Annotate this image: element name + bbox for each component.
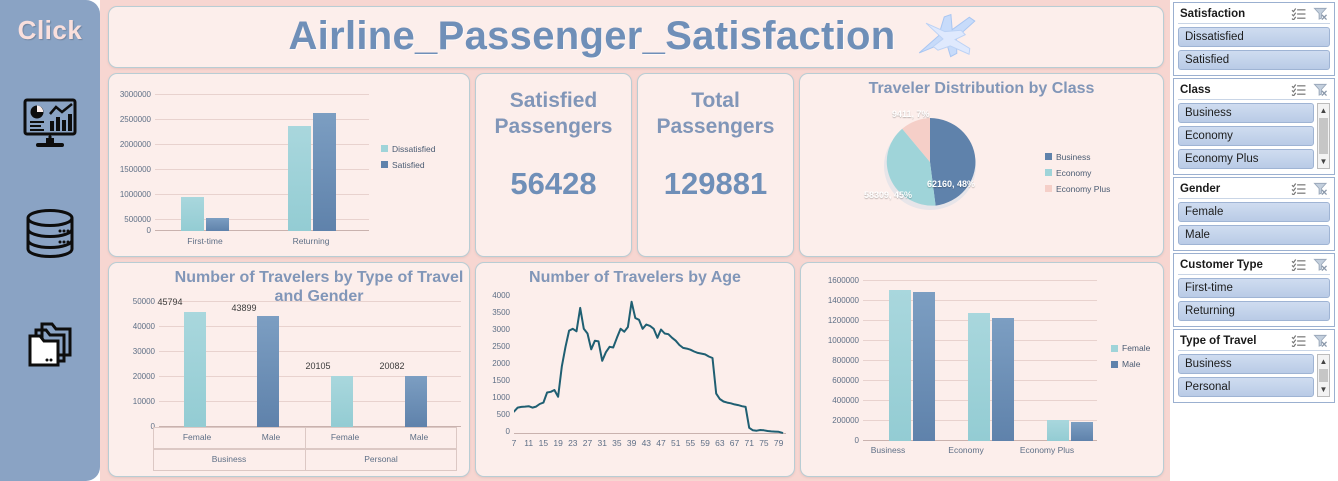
y-tick: 40000 [113, 322, 155, 331]
slicer-item-economy[interactable]: Economy [1178, 126, 1314, 146]
page-title: Airline_Passenger_Satisfaction [288, 14, 895, 59]
slicer-panel: Satisfaction DissatisfiedSatisfiedClass … [1170, 0, 1338, 481]
slicer-body: DissatisfiedSatisfied [1178, 24, 1330, 70]
dashboard-row-2: Number of Travelers by Type of Traveland… [108, 262, 1164, 477]
scrollbar-thumb[interactable] [1319, 118, 1328, 154]
sidebar-item-files[interactable] [18, 312, 82, 376]
dashboard-app: Click [0, 0, 1338, 481]
x-tick: Economy Plus [1005, 445, 1089, 455]
pie-label-business: 62160, 48% [927, 179, 975, 189]
y-tick: 1500 [476, 376, 510, 385]
slicer-item-satisfied[interactable]: Satisfied [1178, 50, 1330, 70]
chart-legend: Dissatisfied Satisfied [381, 144, 435, 176]
dashboard-header: Airline_Passenger_Satisfaction [108, 6, 1164, 68]
x-tick: Female [305, 432, 385, 442]
database-icon [22, 208, 78, 260]
x-tick: Male [231, 432, 311, 442]
multi-select-icon[interactable] [1291, 7, 1306, 20]
kpi-value: 129881 [664, 166, 767, 202]
slicer-item-list: BusinessPersonal [1178, 354, 1314, 397]
bar-economy-plus-male [1071, 422, 1093, 441]
legend-swatch [1111, 361, 1118, 368]
bar-business-male [913, 292, 935, 441]
multi-select-icon[interactable] [1291, 83, 1306, 96]
chart-title: Number of Travelers by Age [476, 263, 794, 287]
bar-economy-male [992, 318, 1014, 441]
y-tick: 3000000 [109, 90, 151, 99]
bar-economy-plus-female [1047, 420, 1069, 441]
chart-class-by-gender: 1600000 1400000 1200000 1000000 800000 6… [800, 262, 1164, 477]
y-tick: 1000000 [805, 336, 859, 345]
y-tick: 1600000 [805, 276, 859, 285]
dashboard-row-1: 3000000 2500000 2000000 1500000 1000000 … [108, 73, 1164, 258]
y-tick: 1000 [476, 393, 510, 402]
slicer-title: Satisfaction [1180, 8, 1245, 20]
slicer-title: Customer Type [1180, 259, 1263, 271]
kpi-label: SatisfiedPassengers [495, 88, 613, 141]
slicer-item-female[interactable]: Female [1178, 202, 1330, 222]
y-tick: 2000000 [109, 140, 151, 149]
bar-returning-satisfied [313, 113, 336, 231]
slicer-gender: Gender FemaleMale [1173, 177, 1335, 251]
x-tick: Business [851, 445, 925, 455]
scroll-down-icon[interactable]: ▼ [1318, 155, 1329, 168]
y-tick: 1000000 [109, 190, 151, 199]
legend-label: Dissatisfied [392, 144, 435, 154]
slicer-scrollbar[interactable]: ▲ ▼ [1317, 103, 1330, 169]
clear-filter-icon[interactable] [1313, 83, 1328, 96]
clear-filter-icon[interactable] [1313, 7, 1328, 20]
y-tick: 400000 [805, 396, 859, 405]
y-tick: 10000 [113, 397, 155, 406]
slicer-item-list: FemaleMale [1178, 202, 1330, 245]
y-tick: 20000 [113, 372, 155, 381]
legend-label: Business [1056, 152, 1091, 162]
bar-value-label: 45794 [145, 297, 195, 307]
slicer-scrollbar[interactable]: ▲ ▼ [1317, 354, 1330, 397]
scroll-up-icon[interactable]: ▲ [1318, 355, 1329, 368]
legend-label: Economy [1056, 168, 1091, 178]
x-group-label: Business [153, 454, 305, 464]
slicer-body: FemaleMale [1178, 199, 1330, 245]
legend-label: Satisfied [392, 160, 425, 170]
slicer-body: First-timeReturning [1178, 275, 1330, 321]
x-tick: Economy [929, 445, 1003, 455]
bar-returning-dissatisfied [288, 126, 311, 231]
left-sidebar: Click [0, 0, 100, 481]
scrollbar-thumb[interactable] [1319, 369, 1328, 382]
legend-swatch [381, 145, 388, 152]
scroll-up-icon[interactable]: ▲ [1318, 104, 1329, 117]
sidebar-title: Click [18, 15, 83, 46]
legend-item: Economy Plus [1045, 184, 1110, 194]
slicer-item-economy-plus[interactable]: Economy Plus [1178, 149, 1314, 169]
chart-legend: Female Male [1111, 343, 1150, 375]
y-tick: 30000 [113, 347, 155, 356]
y-tick: 1200000 [805, 316, 859, 325]
pie-chart [870, 106, 990, 218]
x-group-label: Personal [305, 454, 457, 464]
bar-first-time-dissatisfied [181, 197, 204, 231]
sidebar-item-database[interactable] [18, 202, 82, 266]
y-tick: 800000 [805, 356, 859, 365]
bar-business-female [184, 312, 206, 427]
slicer-item-list: BusinessEconomyEconomy Plus [1178, 103, 1314, 169]
y-tick: 1400000 [805, 296, 859, 305]
legend-swatch [1045, 153, 1052, 160]
kpi-value: 56428 [510, 166, 596, 202]
y-tick: 500000 [109, 215, 151, 224]
chart-satisfaction-by-customer-type: 3000000 2500000 2000000 1500000 1000000 … [108, 73, 470, 258]
legend-item: Dissatisfied [381, 144, 435, 154]
slicer-header: Satisfaction [1178, 6, 1330, 24]
y-tick: 200000 [805, 416, 859, 425]
legend-item: Business [1045, 152, 1110, 162]
y-tick: 4000 [476, 291, 510, 300]
bar-personal-male [405, 376, 427, 427]
bar-value-label: 20105 [293, 361, 343, 371]
bar-personal-female [331, 376, 353, 427]
y-tick: 2000 [476, 359, 510, 368]
slicer-title: Type of Travel [1180, 335, 1256, 347]
slicer-class: Class BusinessEconomyEconomy Plus▲ ▼ [1173, 78, 1335, 175]
bar-first-time-satisfied [206, 218, 229, 231]
legend-item: Male [1111, 359, 1150, 369]
bar-value-label: 20082 [367, 361, 417, 371]
clear-filter-icon[interactable] [1313, 258, 1328, 271]
x-tick: First-time [155, 236, 255, 246]
slicer-header: Gender [1178, 181, 1330, 199]
age-line-series [514, 291, 786, 435]
pie-label-economy: 58309, 45% [864, 190, 912, 200]
y-tick: 1500000 [109, 165, 151, 174]
slicer-item-first-time[interactable]: First-time [1178, 278, 1330, 298]
x-tick: Returning [261, 236, 361, 246]
kpi-total-passengers: TotalPassengers 129881 [637, 73, 794, 258]
slicer-item-personal[interactable]: Personal [1178, 377, 1314, 397]
multi-select-icon[interactable] [1291, 334, 1306, 347]
slicer-header: Customer Type [1178, 257, 1330, 275]
slicer-header: Type of Travel [1178, 333, 1330, 351]
slicer-type-of-travel: Type of Travel BusinessPersonal▲ ▼ [1173, 329, 1335, 403]
slicer-customer-type: Customer Type First-timeReturning [1173, 253, 1335, 327]
chart-travelers-by-age: Number of Travelers by Age 4000 3500 300… [475, 262, 795, 477]
y-tick: 500 [476, 410, 510, 419]
slicer-satisfaction: Satisfaction DissatisfiedSatisfied [1173, 2, 1335, 76]
kpi-label: TotalPassengers [657, 88, 775, 141]
legend-item: Economy [1045, 168, 1110, 178]
slicer-header: Class [1178, 82, 1330, 100]
slicer-body: BusinessPersonal▲ ▼ [1178, 351, 1330, 397]
y-tick: 0 [109, 226, 151, 235]
clear-filter-icon[interactable] [1313, 334, 1328, 347]
chart-travelers-by-type-and-gender: Number of Travelers by Type of Traveland… [108, 262, 470, 477]
legend-label: Female [1122, 343, 1150, 353]
pie-slice-business [930, 118, 975, 206]
chart-legend: Business Economy Economy Plus [1045, 152, 1110, 200]
y-tick: 0 [476, 427, 510, 436]
bar-economy-female [968, 313, 990, 441]
scroll-down-icon[interactable]: ▼ [1318, 383, 1329, 396]
dashboard-monitor-icon [22, 98, 78, 150]
slicer-item-business[interactable]: Business [1178, 354, 1314, 374]
y-tick: 600000 [805, 376, 859, 385]
legend-swatch [1111, 345, 1118, 352]
slicer-item-returning[interactable]: Returning [1178, 301, 1330, 321]
slicer-item-male[interactable]: Male [1178, 225, 1330, 245]
folders-icon [22, 318, 78, 370]
bar-business-male [257, 316, 279, 427]
y-tick: 3500 [476, 308, 510, 317]
legend-swatch [381, 161, 388, 168]
x-tick: 79 [769, 438, 789, 448]
bar-business-female [889, 290, 911, 441]
clear-filter-icon[interactable] [1313, 182, 1328, 195]
x-tick: Male [379, 432, 459, 442]
slicer-item-business[interactable]: Business [1178, 103, 1314, 123]
airplane-icon [910, 12, 984, 62]
dashboard-canvas: نفذلي nafezly.com Airline_Passenger_Sati… [100, 0, 1170, 481]
kpi-satisfied-passengers: SatisfiedPassengers 56428 [475, 73, 632, 258]
chart-title: Traveler Distribution by Class [800, 74, 1163, 98]
legend-swatch [1045, 169, 1052, 176]
y-tick: 0 [113, 422, 155, 431]
slicer-item-list: DissatisfiedSatisfied [1178, 27, 1330, 70]
legend-swatch [1045, 185, 1052, 192]
slicer-item-list: First-timeReturning [1178, 278, 1330, 321]
bar-value-label: 43899 [219, 303, 269, 313]
slicer-item-dissatisfied[interactable]: Dissatisfied [1178, 27, 1330, 47]
pie-label-economy-plus: 9411, 7% [892, 109, 930, 119]
y-tick: 2500 [476, 342, 510, 351]
legend-item: Satisfied [381, 160, 435, 170]
legend-label: Male [1122, 359, 1140, 369]
sidebar-item-dashboard[interactable] [18, 92, 82, 156]
multi-select-icon[interactable] [1291, 182, 1306, 195]
multi-select-icon[interactable] [1291, 258, 1306, 271]
x-tick: Female [157, 432, 237, 442]
legend-label: Economy Plus [1056, 184, 1110, 194]
slicer-body: BusinessEconomyEconomy Plus▲ ▼ [1178, 100, 1330, 169]
slicer-title: Class [1180, 84, 1211, 96]
slicer-title: Gender [1180, 183, 1220, 195]
chart-traveler-distribution-by-class: Traveler Distribution by Class 62160, 48… [799, 73, 1164, 258]
y-tick: 3000 [476, 325, 510, 334]
y-tick: 2500000 [109, 115, 151, 124]
y-tick: 0 [805, 436, 859, 445]
legend-item: Female [1111, 343, 1150, 353]
